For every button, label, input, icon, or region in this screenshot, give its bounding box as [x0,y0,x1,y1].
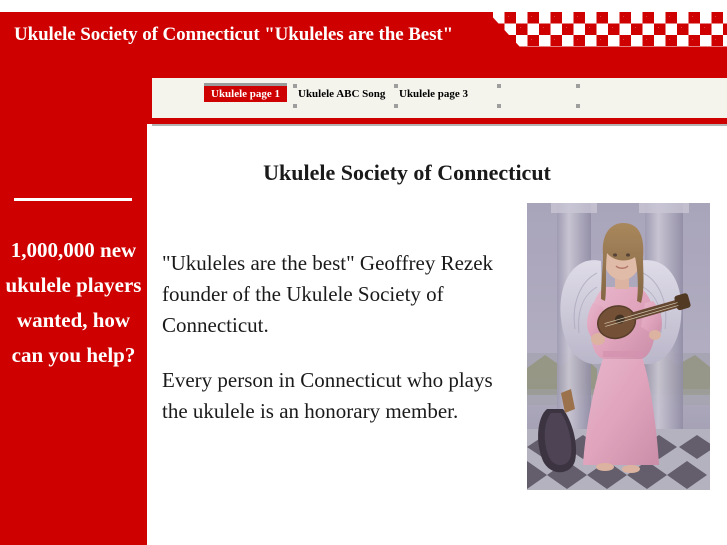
body-copy: "Ukuleles are the best" Geoffrey Rezek f… [162,248,514,451]
sidebar-divider [14,198,132,201]
tab-ukulele-page-1[interactable]: Ukulele page 1 [204,83,287,102]
resize-handle-icon[interactable] [497,104,501,108]
site-banner: Ukulele Society of Connecticut "Ukuleles… [0,0,727,78]
angel-ukulele-image [527,203,710,490]
banner-red-base [0,47,727,78]
paragraph-membership: Every person in Connecticut who plays th… [162,365,514,427]
tab-navigation-bar: Ukulele page 1 Ukulele ABC Song Ukulele … [152,78,727,118]
left-sidebar: 1,000,000 new ukulele players wanted, ho… [0,78,147,545]
tab-ukulele-abc-song[interactable]: Ukulele ABC Song [298,86,385,102]
resize-handle-icon[interactable] [576,104,580,108]
resize-handle-icon[interactable] [293,84,297,88]
tab-ukulele-page-3[interactable]: Ukulele page 3 [399,86,468,102]
resize-handle-icon[interactable] [576,84,580,88]
site-title: Ukulele Society of Connecticut "Ukuleles… [14,24,453,46]
resize-handle-icon[interactable] [293,104,297,108]
resize-handle-icon[interactable] [497,84,501,88]
paragraph-quote: "Ukuleles are the best" Geoffrey Rezek f… [162,248,514,341]
resize-handle-icon[interactable] [394,84,398,88]
sidebar-callout-text: 1,000,000 new ukulele players wanted, ho… [4,233,143,373]
resize-handle-icon[interactable] [394,104,398,108]
page-title: Ukulele Society of Connecticut [147,160,667,186]
